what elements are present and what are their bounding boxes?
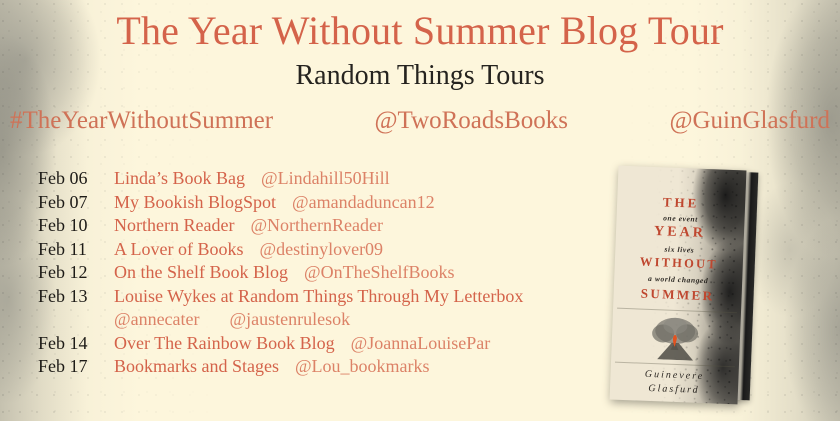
schedule-blog: On the Shelf Book Blog — [114, 262, 288, 283]
handle-guinglasfurd[interactable]: @GuinGlasfurd — [669, 105, 830, 137]
schedule-blog: Northern Reader — [114, 215, 234, 236]
schedule-handle[interactable]: @amandaduncan12 — [292, 192, 435, 213]
book-image: THE one event YEAR six lives WITHOUT a w… — [608, 162, 818, 410]
schedule-handle[interactable]: @destinylover09 — [260, 239, 384, 260]
cover-title-line: THE — [617, 193, 746, 214]
schedule-row: Feb 11 A Lover of Books @destinylover09 — [38, 239, 613, 263]
schedule-blog: A Lover of Books — [114, 239, 244, 260]
schedule-date: Feb 06 — [38, 168, 114, 189]
cover-title-line: WITHOUT — [615, 254, 743, 274]
schedule-row: Feb 06 Linda’s Book Bag @Lindahill50Hill — [38, 168, 613, 192]
schedule-blog: My Bookish BlogSpot — [114, 192, 276, 213]
schedule-handle[interactable]: @jaustenrulesok — [230, 309, 351, 330]
schedule-row: Feb 07 My Bookish BlogSpot @amandaduncan… — [38, 192, 613, 216]
schedule-handle[interactable]: @annecater — [114, 309, 200, 330]
cover-author-line: Glasfurd — [610, 381, 738, 397]
schedule-handle[interactable]: @JoannaLouisePar — [351, 333, 491, 354]
schedule-blog: Louise Wykes at Random Things Through My… — [114, 286, 523, 307]
page-title: The Year Without Summer Blog Tour — [0, 0, 840, 56]
header-block: The Year Without Summer Blog Tour Random… — [0, 0, 840, 94]
schedule-date: Feb 10 — [38, 215, 114, 236]
handle-tworoadsbooks[interactable]: @TwoRoadsBooks — [375, 105, 569, 137]
schedule-row-continuation: @annecater @jaustenrulesok — [38, 309, 613, 333]
schedule-row: Feb 13 Louise Wykes at Random Things Thr… — [38, 286, 613, 310]
blog-tour-poster: The Year Without Summer Blog Tour Random… — [0, 0, 840, 421]
social-handles-row: #TheYearWithoutSummer @TwoRoadsBooks @Gu… — [0, 105, 840, 137]
schedule-date: Feb 17 — [38, 356, 114, 377]
schedule-row: Feb 17 Bookmarks and Stages @Lou_bookmar… — [38, 356, 613, 380]
schedule-blog: Linda’s Book Bag — [114, 168, 245, 189]
schedule-handle[interactable]: @Lindahill50Hill — [261, 168, 390, 189]
schedule-date: Feb 11 — [38, 239, 114, 260]
cover-title-line: YEAR — [616, 223, 745, 244]
hashtag-theyearwithoutsummer[interactable]: #TheYearWithoutSummer — [10, 105, 273, 137]
schedule-handle[interactable]: @NorthernReader — [250, 215, 383, 236]
schedule-row: Feb 12 On the Shelf Book Blog @OnTheShel… — [38, 262, 613, 286]
tour-schedule-list: Feb 06 Linda’s Book Bag @Lindahill50Hill… — [38, 168, 613, 380]
schedule-row: Feb 14 Over The Rainbow Book Blog @Joann… — [38, 333, 613, 357]
schedule-row: Feb 10 Northern Reader @NorthernReader — [38, 215, 613, 239]
schedule-date: Feb 12 — [38, 262, 114, 283]
schedule-date: Feb 14 — [38, 333, 114, 354]
schedule-date: Feb 13 — [38, 286, 114, 307]
book-cover-text: THE one event YEAR six lives WITHOUT a w… — [610, 166, 747, 405]
book-front-cover: THE one event YEAR six lives WITHOUT a w… — [610, 166, 747, 405]
schedule-handle[interactable]: @Lou_bookmarks — [295, 356, 430, 377]
page-subtitle: Random Things Tours — [0, 56, 840, 94]
schedule-handle[interactable]: @OnTheShelfBooks — [304, 262, 455, 283]
schedule-date: Feb 07 — [38, 192, 114, 213]
cover-author-line: Guinevere — [610, 367, 738, 383]
schedule-blog: Bookmarks and Stages — [114, 356, 279, 377]
cover-title-line: SUMMER — [613, 285, 742, 306]
schedule-blog: Over The Rainbow Book Blog — [114, 333, 335, 354]
